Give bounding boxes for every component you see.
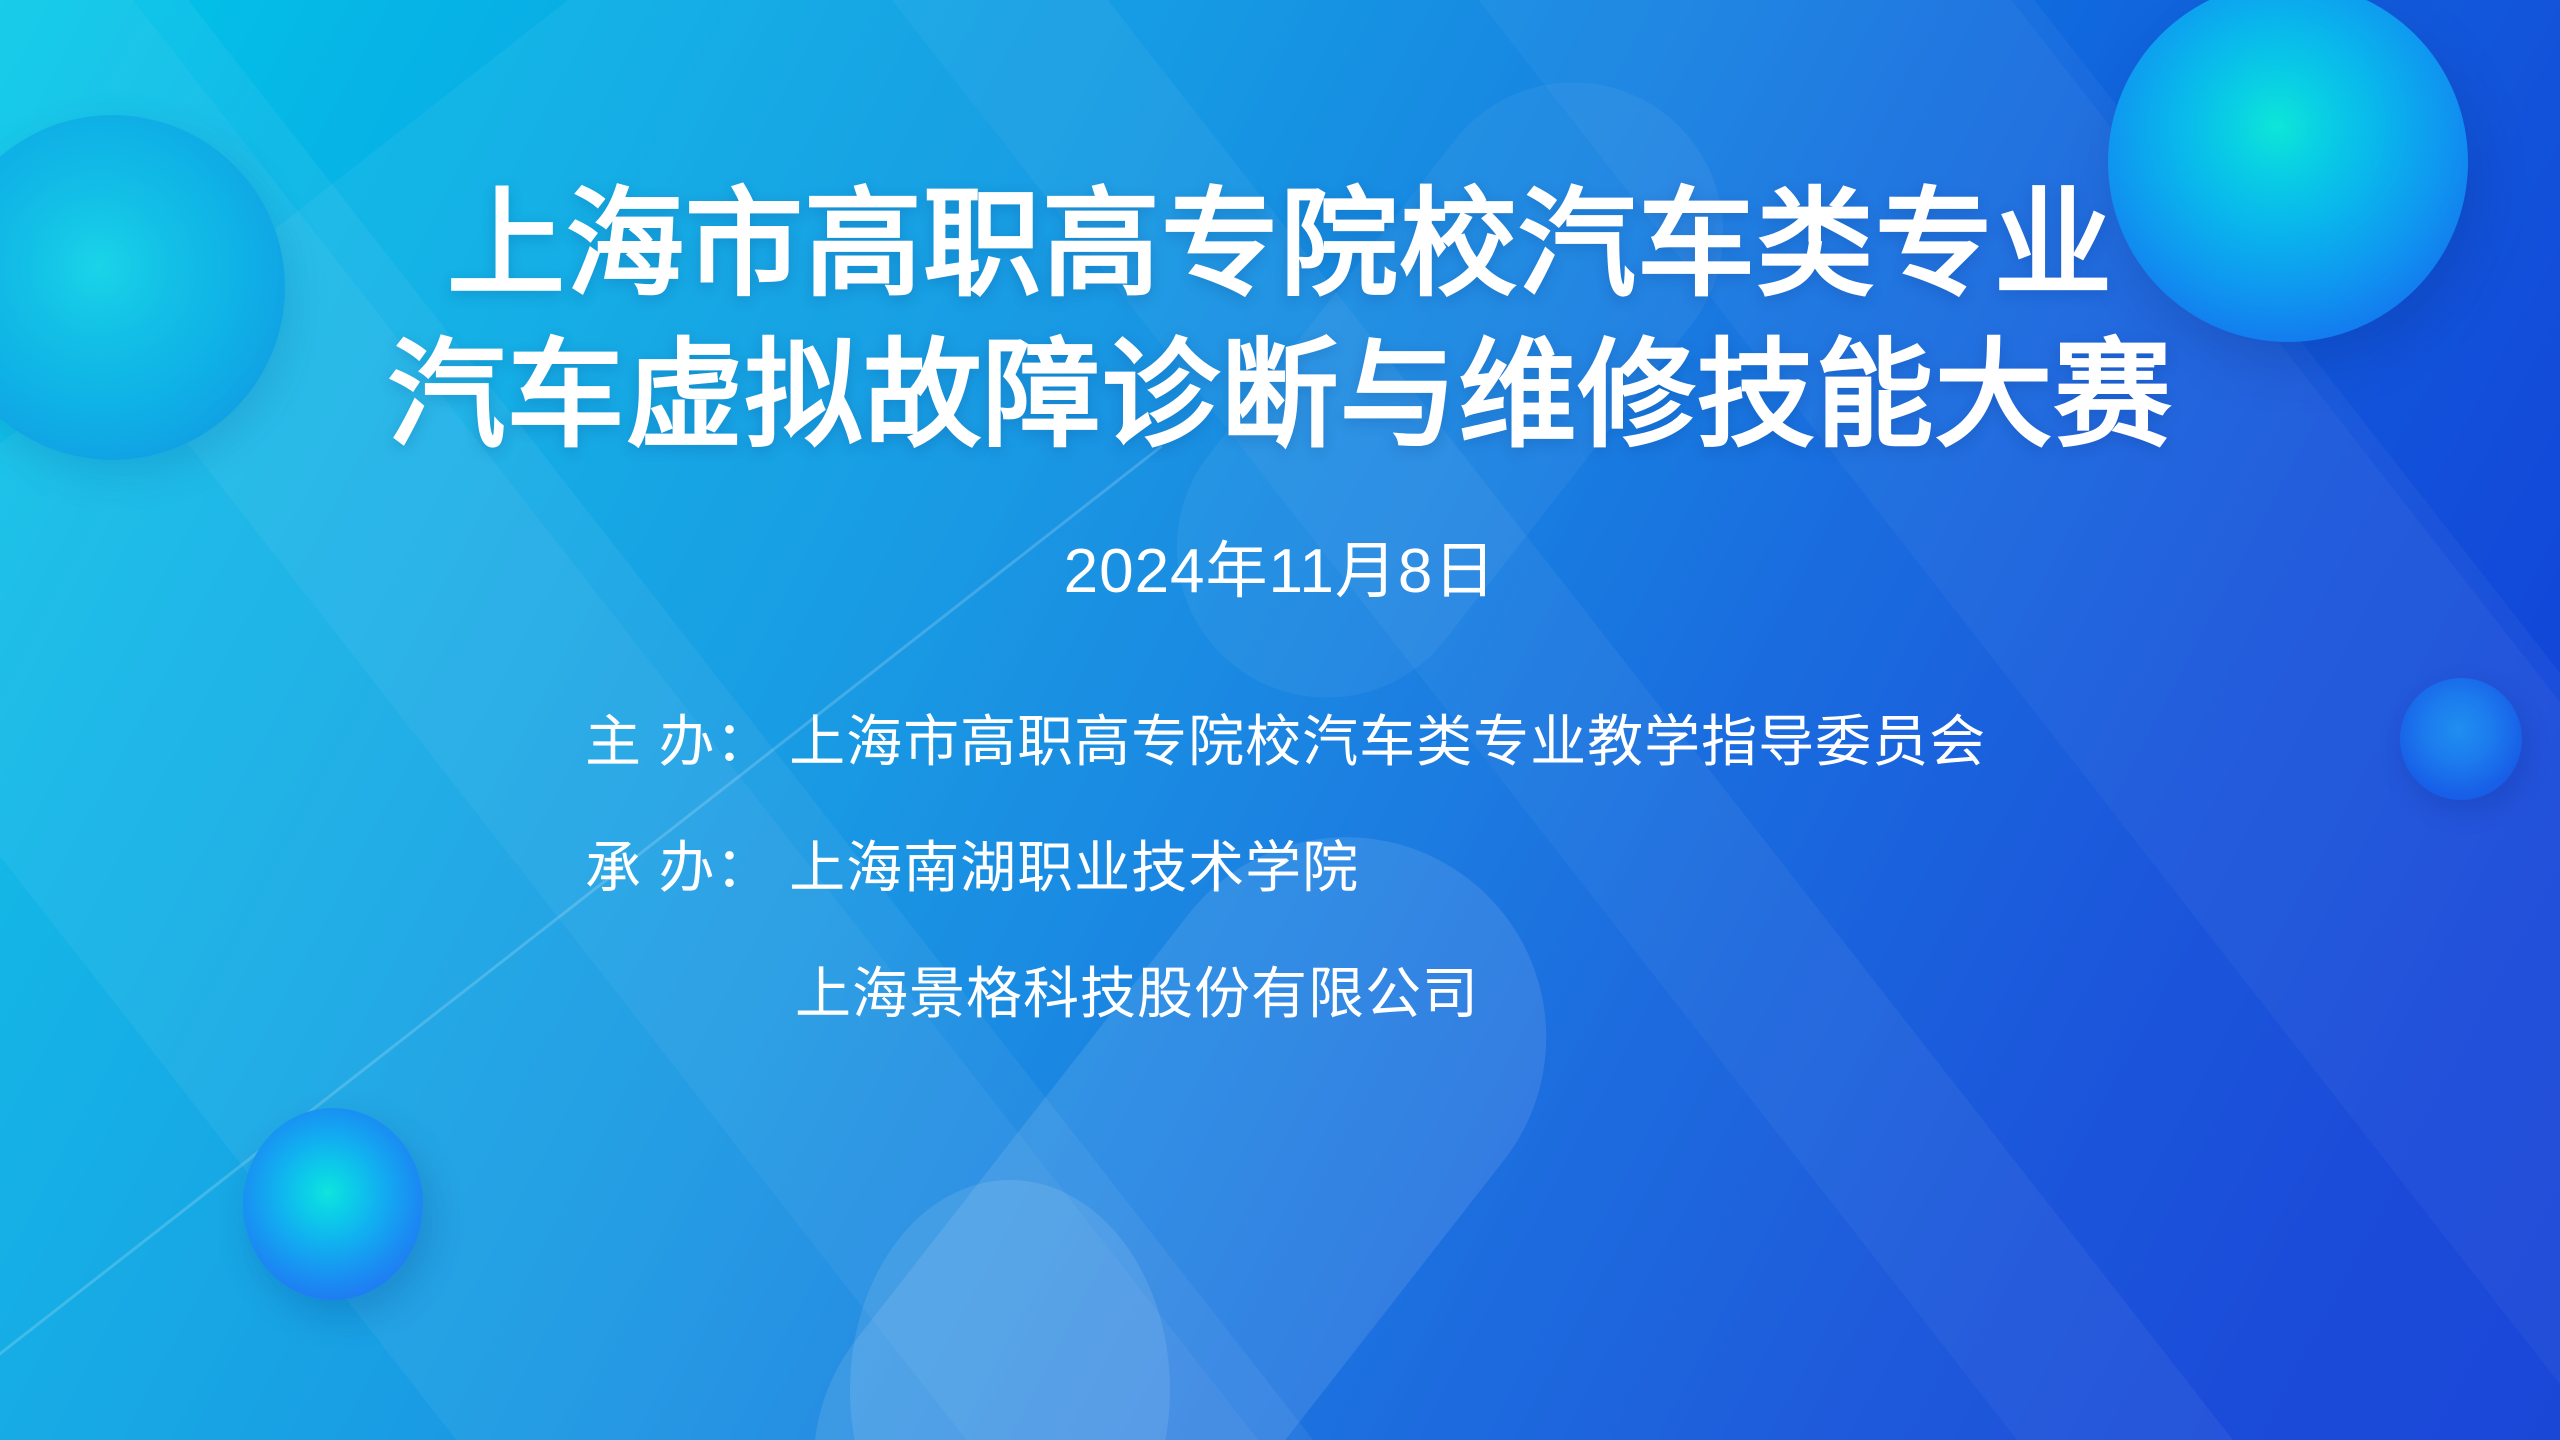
page-title: 上海市高职高专院校汽车类专业 汽车虚拟故障诊断与维修技能大赛 (0, 170, 2560, 472)
event-date: 2024年11月8日 (0, 520, 2560, 610)
title-line-2: 汽车虚拟故障诊断与维修技能大赛 (0, 321, 2560, 472)
title-line-1: 上海市高职高专院校汽车类专业 (0, 170, 2560, 321)
organizer-host-row: 主 办： 上海市高职高专院校汽车类专业教学指导委员会 (585, 700, 2560, 784)
organizer-co-host-row: 承 办： 上海南湖职业技术学院 (585, 826, 2560, 910)
organizer-list: 主 办： 上海市高职高专院校汽车类专业教学指导委员会 承 办： 上海南湖职业技术… (0, 700, 2560, 1036)
slide-content: 上海市高职高专院校汽车类专业 汽车虚拟故障诊断与维修技能大赛 2024年11月8… (0, 0, 2560, 1440)
poster-slide: 上海市高职高专院校汽车类专业 汽车虚拟故障诊断与维修技能大赛 2024年11月8… (0, 0, 2560, 1440)
organizer-partner-row: 上海景格科技股份有限公司 (795, 952, 2560, 1036)
